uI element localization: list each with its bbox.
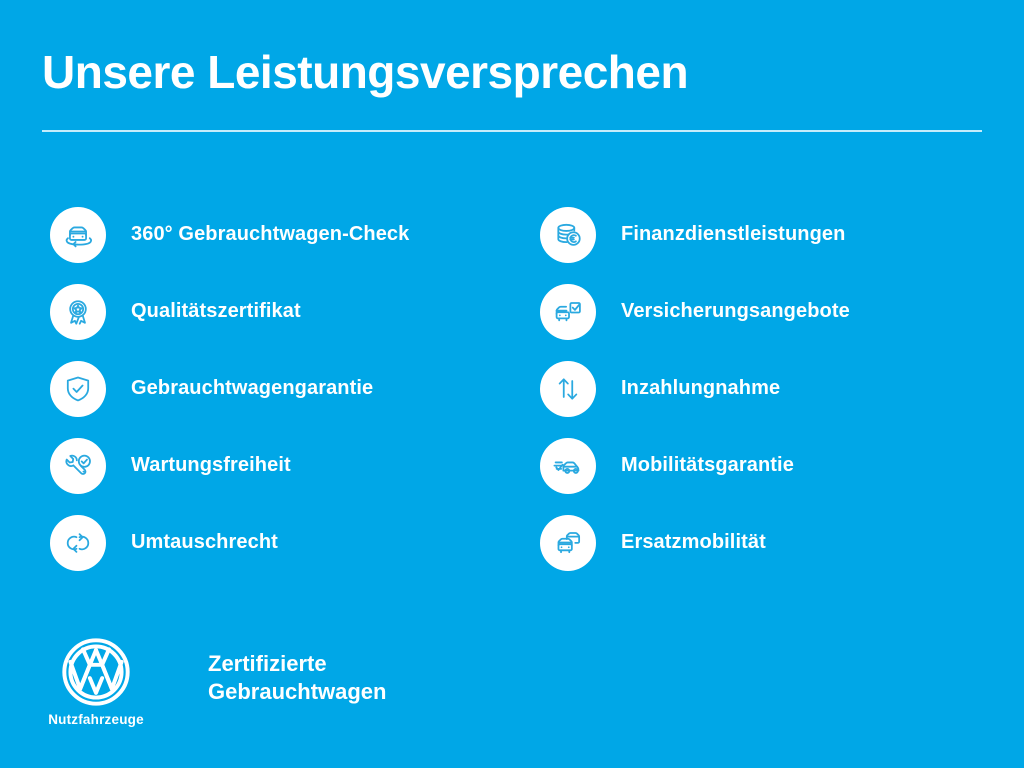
feature-label: Gebrauchtwagengarantie: [131, 377, 373, 400]
award-rosette-icon: [50, 284, 106, 340]
header: Unsere Leistungsversprechen: [42, 48, 982, 96]
feature-item-trade-in: Inzahlungnahme: [540, 350, 1024, 427]
feature-label: Mobilitätsgarantie: [621, 454, 794, 477]
brand-claim-line-1: Zertifizierte: [208, 650, 386, 678]
coins-euro-icon: [540, 207, 596, 263]
brand-claim: Zertifizierte Gebrauchtwagen: [208, 650, 386, 706]
shield-check-icon: [50, 361, 106, 417]
exchange-arrows-icon: [50, 515, 106, 571]
car-checklist-icon: [540, 284, 596, 340]
feature-label: Ersatzmobilität: [621, 531, 766, 554]
brand-sub-label: Nutzfahrzeuge: [42, 712, 150, 727]
volkswagen-logo: [60, 636, 132, 708]
features-column-left: 360° Gebrauchtwagen-Check Qualitätszerti…: [0, 196, 520, 581]
feature-label: Qualitätszertifikat: [131, 300, 301, 323]
feature-label: Umtauschrecht: [131, 531, 278, 554]
title-divider: [42, 130, 982, 132]
feature-item-insurance-offers: Versicherungsangebote: [540, 273, 1024, 350]
feature-item-quality-certificate: Qualitätszertifikat: [50, 273, 520, 350]
feature-label: Finanzdienstleistungen: [621, 223, 845, 246]
features-grid: 360° Gebrauchtwagen-Check Qualitätszerti…: [0, 196, 1024, 581]
car-360-check-icon: [50, 207, 106, 263]
slide-root: Unsere Leistungsversprechen 360°: [0, 0, 1024, 768]
wrench-check-icon: [50, 438, 106, 494]
brand-block: Nutzfahrzeuge Zertifizierte Gebrauchtwag…: [42, 636, 386, 727]
feature-item-exchange-right: Umtauschrecht: [50, 504, 520, 581]
feature-item-financial-services: Finanzdienstleistungen: [540, 196, 1024, 273]
feature-item-maintenance-free: Wartungsfreiheit: [50, 427, 520, 504]
car-motion-icon: [540, 438, 596, 494]
two-cars-icon: [540, 515, 596, 571]
brand-claim-line-2: Gebrauchtwagen: [208, 678, 386, 706]
feature-label: 360° Gebrauchtwagen-Check: [131, 223, 409, 246]
feature-label: Versicherungsangebote: [621, 300, 850, 323]
feature-label: Wartungsfreiheit: [131, 454, 291, 477]
feature-item-replacement-mobility: Ersatzmobilität: [540, 504, 1024, 581]
page-title: Unsere Leistungsversprechen: [42, 48, 982, 96]
feature-item-360-check: 360° Gebrauchtwagen-Check: [50, 196, 520, 273]
feature-label: Inzahlungnahme: [621, 377, 780, 400]
feature-item-warranty: Gebrauchtwagengarantie: [50, 350, 520, 427]
features-column-right: Finanzdienstleistungen Versicheru: [520, 196, 1024, 581]
up-down-arrows-icon: [540, 361, 596, 417]
feature-item-mobility-guarantee: Mobilitätsgarantie: [540, 427, 1024, 504]
brand-mark: Nutzfahrzeuge: [42, 636, 150, 727]
